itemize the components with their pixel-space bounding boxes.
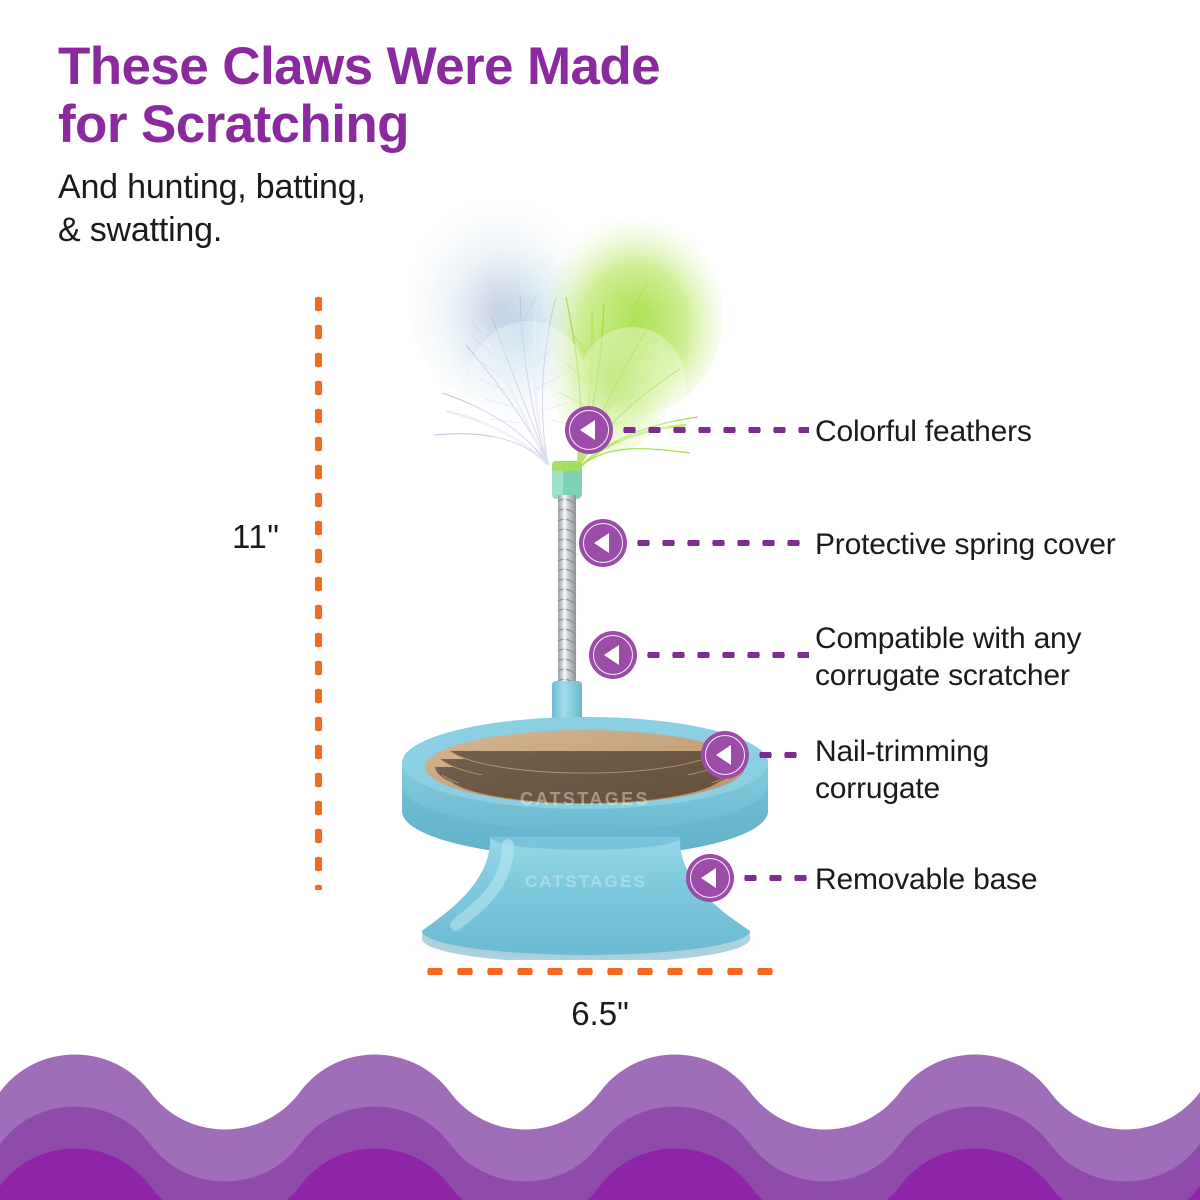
callout-leader-compatible-corrugate-scratcher (641, 652, 809, 658)
callout-label-nail-trimming-corrugate: Nail-trimming corrugate (815, 733, 989, 807)
brand-emboss-ring: CATSTAGES (520, 789, 650, 809)
wave-decoration (0, 1040, 1200, 1200)
callout-marker-nail-trimming-corrugate[interactable] (701, 731, 749, 779)
callout-marker-colorful-feathers[interactable] (565, 406, 613, 454)
triangle-left-icon (716, 745, 731, 765)
triangle-left-icon (701, 868, 716, 888)
callout-leader-colorful-feathers (617, 427, 809, 433)
callout-label-compatible-corrugate-scratcher: Compatible with any corrugate scratcher (815, 620, 1081, 694)
product-image: CATSTAGES CATSTAGES (380, 185, 820, 960)
page-title: These Claws Were Made for Scratching (58, 38, 918, 154)
callout-leader-removable-base (738, 875, 809, 881)
callout-marker-removable-base[interactable] (686, 854, 734, 902)
callout-label-protective-spring-cover: Protective spring cover (815, 526, 1116, 563)
width-dimension-label: 6.5" (420, 995, 780, 1033)
callout-marker-compatible-corrugate-scratcher[interactable] (589, 631, 637, 679)
height-dimension-line (315, 290, 322, 890)
callout-label-colorful-feathers: Colorful feathers (815, 413, 1032, 450)
callout-leader-protective-spring-cover (631, 540, 809, 546)
triangle-left-icon (604, 645, 619, 665)
callout-marker-protective-spring-cover[interactable] (579, 519, 627, 567)
callout-label-removable-base: Removable base (815, 861, 1037, 898)
height-dimension-label: 11" (232, 518, 279, 556)
brand-emboss-base: CATSTAGES (525, 872, 647, 891)
triangle-left-icon (580, 420, 595, 440)
width-dimension-line (420, 968, 780, 975)
protective-spring (558, 495, 576, 685)
triangle-left-icon (594, 533, 609, 553)
callout-leader-nail-trimming-corrugate (753, 752, 809, 758)
feather-cluster (408, 195, 723, 499)
